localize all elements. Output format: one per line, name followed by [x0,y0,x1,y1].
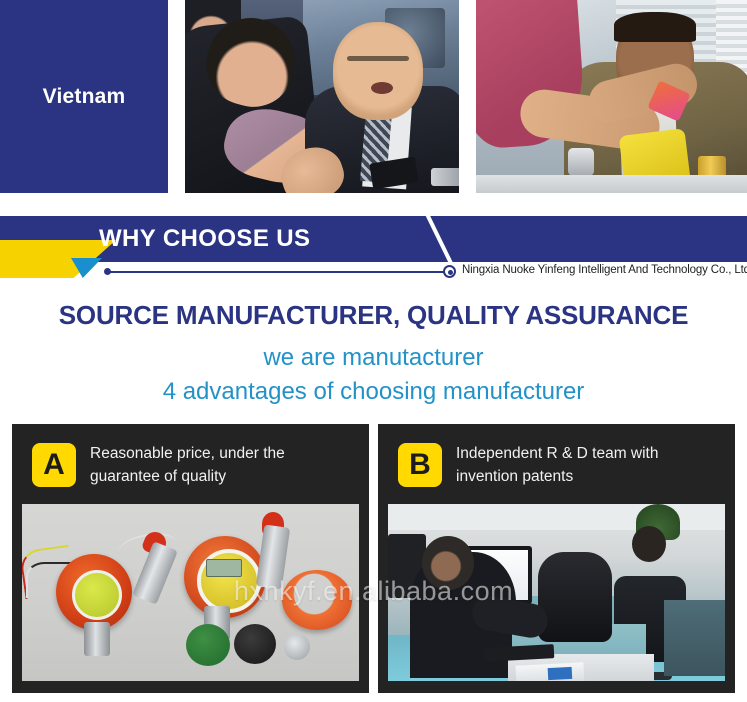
top-photo-strip: Vietnam [0,0,747,193]
country-badge-vietnam: Vietnam [0,0,168,193]
subheadline-primary: we are manutacturer [0,344,747,372]
advantage-text-b: Independent R & D team with invention pa… [456,442,718,488]
company-name: Ningxia Nuoke Yinfeng Intelligent And Te… [462,264,747,276]
banner-title: WHY CHOOSE US [99,221,310,257]
why-choose-us-banner: WHY CHOOSE US Ningxia Nuoke Yinfeng Inte… [0,216,747,278]
desk-cabinet [664,600,725,676]
strip-divider-1 [168,0,185,193]
engineer-right-head [632,526,666,562]
subheadline-secondary: 4 advantages of choosing manufacturer [0,378,747,406]
advantage-badge-b: B [398,443,442,487]
advantage-badge-a: A [32,443,76,487]
photo-customer-product-demo [476,0,747,193]
page-headline: SOURCE MANUFACTURER, QUALITY ASSURANCE [0,300,747,331]
advantage-card-b: B Independent R & D team with invention … [378,424,735,693]
advantage-card-a: A Reasonable price, under the guarantee … [12,424,369,693]
green-circuit-board [186,624,230,666]
sensor-base-left [84,622,110,656]
wristwatch [568,148,594,176]
backpack-on-chair [538,552,612,642]
rd-office-team-photo [388,504,725,681]
engineer-left-head [422,536,474,590]
photo-meeting-with-customer [185,0,459,193]
desk-surface [476,175,747,193]
banner-horizontal-rule [108,271,446,273]
detector-lcd-display [206,559,242,577]
advantage-text-a: Reasonable price, under the guarantee of… [90,442,352,488]
country-label: Vietnam [43,85,126,109]
seated-person-hair [614,12,696,42]
rule-target-dot-icon [443,265,456,278]
gas-sensor-element [284,634,310,660]
right-person-mouth [371,82,393,94]
detector-cover-ring [282,570,352,630]
fixed-gas-detector-left [56,554,132,630]
gas-detector-products-photo [22,504,359,681]
right-person-head [333,22,423,120]
black-circuit-board [234,624,276,664]
strip-divider-2 [459,0,476,193]
right-person-brow [347,56,409,61]
desk-documents [515,662,584,681]
wristwatch [431,168,459,186]
